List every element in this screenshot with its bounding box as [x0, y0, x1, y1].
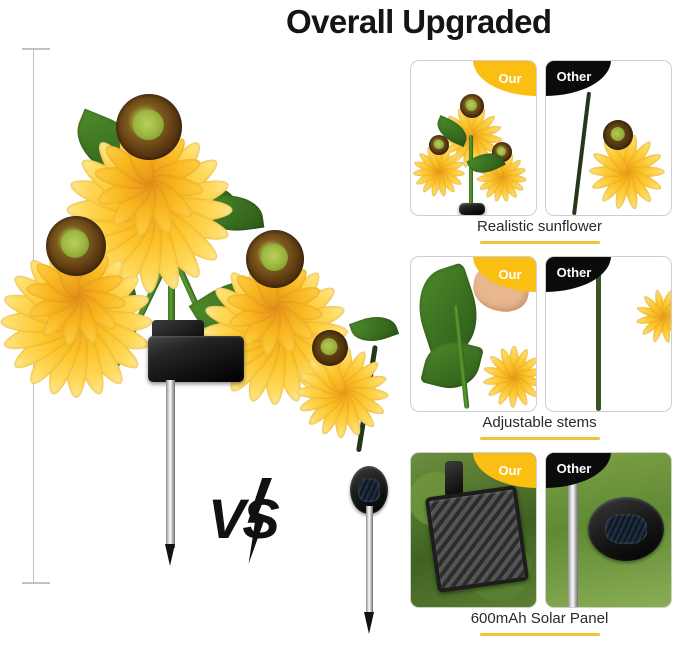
feature-adjustable-stems: Our Other — [400, 252, 679, 448]
feature-image-row: Our Other — [410, 256, 672, 412]
other-panel-pole — [568, 467, 578, 607]
feature-our-card: Our — [410, 60, 537, 216]
bomier-stake-pole — [166, 380, 175, 548]
caption-underline — [480, 633, 600, 636]
bomier-stake-tip — [165, 544, 175, 566]
feature-image-row: Our — [410, 60, 672, 216]
comparison-stage: 27.6in — [0, 44, 400, 646]
sunflower-petals-outer — [625, 258, 672, 322]
feature-panels: Our — [400, 56, 679, 646]
feature-solar-panel: Our Other 600mAh Solar Panel — [400, 448, 679, 644]
badge-other: Other — [545, 60, 611, 96]
feature-caption: Realistic sunflower — [400, 218, 679, 235]
other-stem-sunflower — [625, 258, 672, 322]
rigid-stem — [596, 261, 601, 411]
adjust-sunflower — [483, 315, 537, 377]
feature-caption: 600mAh Solar Panel — [400, 610, 679, 627]
sunflower-petals-outer — [483, 315, 537, 377]
feature-our-card: Our — [410, 452, 537, 608]
page-title: Overall Upgraded — [286, 2, 678, 42]
caption-underline — [480, 437, 600, 440]
other-mini-sunflower — [572, 89, 664, 181]
versus-mark: VS — [208, 482, 304, 560]
feature-caption: Adjustable stems — [400, 414, 679, 431]
feature-other-card: Other — [545, 60, 672, 216]
sunflower-center-disc — [246, 230, 304, 288]
product-comparison-infographic: Overall Upgraded 27.6in — [0, 0, 679, 646]
bomier-solar-panel-box — [148, 336, 244, 382]
ruler-cap-bottom — [22, 582, 50, 584]
feature-realistic-sunflower: Our — [400, 56, 679, 252]
feature-other-card: Other — [545, 256, 672, 412]
other-solar-panel-photo — [588, 497, 664, 561]
feature-image-row: Our Other — [410, 452, 672, 608]
ruler-cap-top — [22, 48, 50, 50]
our-solar-panel-photo — [425, 485, 529, 593]
feature-other-card: Other — [545, 452, 672, 608]
caption-underline — [480, 241, 600, 244]
sunflower-left — [0, 170, 152, 322]
other-stake-tip — [364, 612, 374, 634]
other-stake-pole — [366, 506, 373, 616]
panel-neck — [445, 461, 463, 497]
mini-panel — [459, 203, 485, 215]
badge-other: Other — [545, 256, 611, 292]
feature-our-card: Our — [410, 256, 537, 412]
sunflower-center-disc — [116, 94, 182, 160]
